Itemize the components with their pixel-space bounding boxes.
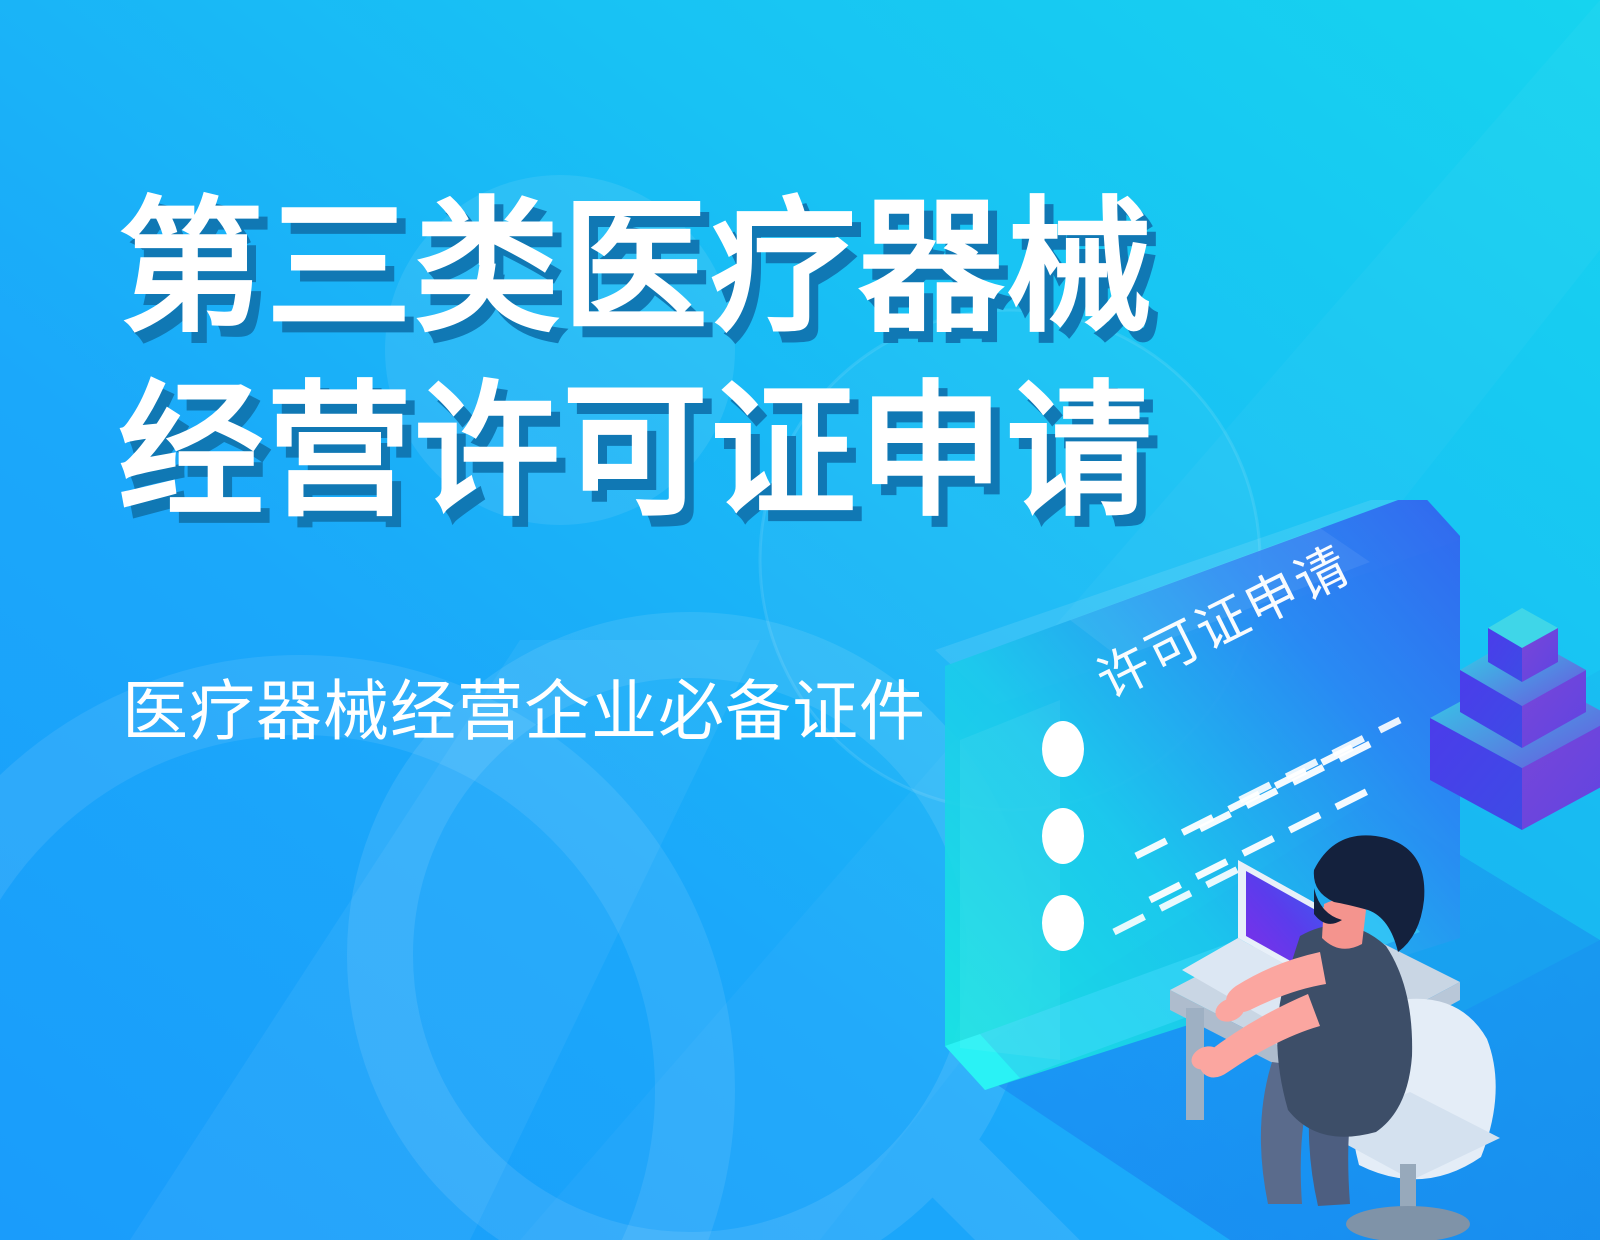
bullet-dot — [1042, 808, 1084, 864]
bullet-dot — [1042, 721, 1084, 777]
poster-canvas: 第三类医疗器械 经营许可证申请 医疗器械经营企业必备证件 — [0, 0, 1600, 1240]
illustration: 许可证申请 — [900, 500, 1600, 1240]
title-line-1: 第三类医疗器械 — [118, 176, 1154, 360]
bullet-dot — [1042, 895, 1084, 951]
poster-subtitle: 医疗器械经营企业必备证件 — [122, 672, 926, 751]
title-line-2: 经营许可证申请 — [118, 360, 1154, 544]
headline-block: 第三类医疗器械 经营许可证申请 — [118, 176, 1154, 544]
magnifier-ring-large — [0, 695, 739, 1240]
panel-bullet-dots — [1042, 721, 1084, 951]
